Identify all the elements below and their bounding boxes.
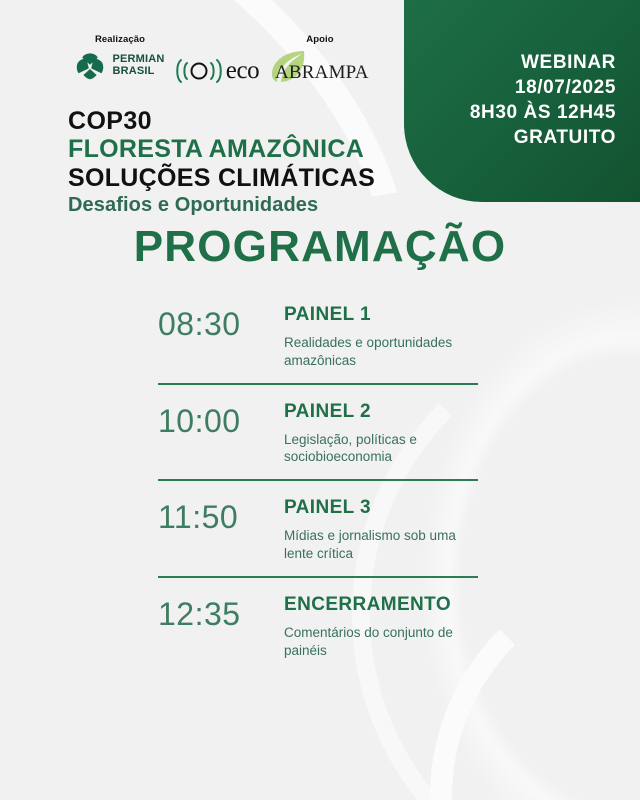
schedule-item-1: 08:30 PAINEL 1 Realidades e oportunidade… <box>158 300 478 370</box>
schedule-description-1: Realidades e oportunidades amazônicas <box>284 334 478 370</box>
permian-wordmark: PERMIAN BRASIL <box>112 54 164 77</box>
schedule-time-4: 12:35 <box>158 594 280 634</box>
schedule-description-2: Legislação, políticas e sociobioeconomia <box>284 431 478 467</box>
webinar-info-panel: WEBINAR 18/07/2025 8H30 ÀS 12H45 GRATUIT… <box>404 0 640 202</box>
schedule-description-4: Comentários do conjunto de painéis <box>284 624 478 660</box>
schedule-divider-2 <box>158 479 478 481</box>
permian-name-line2: BRASIL <box>112 66 164 78</box>
schedule-time-3: 11:50 <box>158 497 280 537</box>
schedule-heading-2: PAINEL 2 <box>284 401 478 424</box>
headline-cop30: COP30 <box>68 108 408 135</box>
schedule-divider-1 <box>158 383 478 385</box>
schedule-description-3: Mídias e jornalismo sob uma lente crític… <box>284 527 478 563</box>
schedule-time-2: 10:00 <box>158 401 280 441</box>
headline-subtitle: Desafios e Oportunidades <box>68 194 408 217</box>
abrampa-wordmark: ABRAMPA <box>275 62 369 84</box>
schedule-heading-3: PAINEL 3 <box>284 497 478 520</box>
schedule-time-1: 08:30 <box>158 304 280 344</box>
schedule-heading-1: PAINEL 1 <box>284 304 478 327</box>
logo-strip: Realização PERMIAN BRASIL <box>0 34 404 96</box>
headline-solucoes-climaticas: SOLUÇÕES CLIMÁTICAS <box>68 165 408 193</box>
schedule-heading-4: ENCERRAMENTO <box>284 594 478 617</box>
logo-oeco: eco <box>160 56 270 86</box>
oeco-parentheses-icon <box>171 56 227 86</box>
schedule-item-3: 11:50 PAINEL 3 Mídias e jornalismo sob u… <box>158 493 478 563</box>
permian-flower-icon <box>75 51 105 81</box>
schedule-item-4: 12:35 ENCERRAMENTO Comentários do conjun… <box>158 590 478 660</box>
oeco-wordmark: eco <box>226 57 260 85</box>
schedule-item-2: 10:00 PAINEL 2 Legislação, políticas e s… <box>158 397 478 467</box>
banner-line-price: GRATUITO <box>470 125 616 150</box>
apoio-caption: Apoio <box>262 34 378 45</box>
programacao-title: PROGRAMAÇÃO <box>0 222 640 272</box>
headline-floresta-amazonica: FLORESTA AMAZÔNICA <box>68 136 408 164</box>
banner-line-webinar: WEBINAR <box>470 50 616 75</box>
webinar-info-text: WEBINAR 18/07/2025 8H30 ÀS 12H45 GRATUIT… <box>470 50 616 150</box>
realizacao-caption: Realização <box>55 34 185 45</box>
logo-abrampa: Apoio ABRAMPA <box>262 34 378 85</box>
webinar-poster: WEBINAR 18/07/2025 8H30 ÀS 12H45 GRATUIT… <box>0 0 640 800</box>
event-headline: COP30 FLORESTA AMAZÔNICA SOLUÇÕES CLIMÁT… <box>68 108 408 217</box>
programacao-list: 08:30 PAINEL 1 Realidades e oportunidade… <box>158 300 478 660</box>
schedule-divider-3 <box>158 576 478 578</box>
banner-line-time: 8H30 ÀS 12H45 <box>470 100 616 125</box>
banner-line-date: 18/07/2025 <box>470 75 616 100</box>
